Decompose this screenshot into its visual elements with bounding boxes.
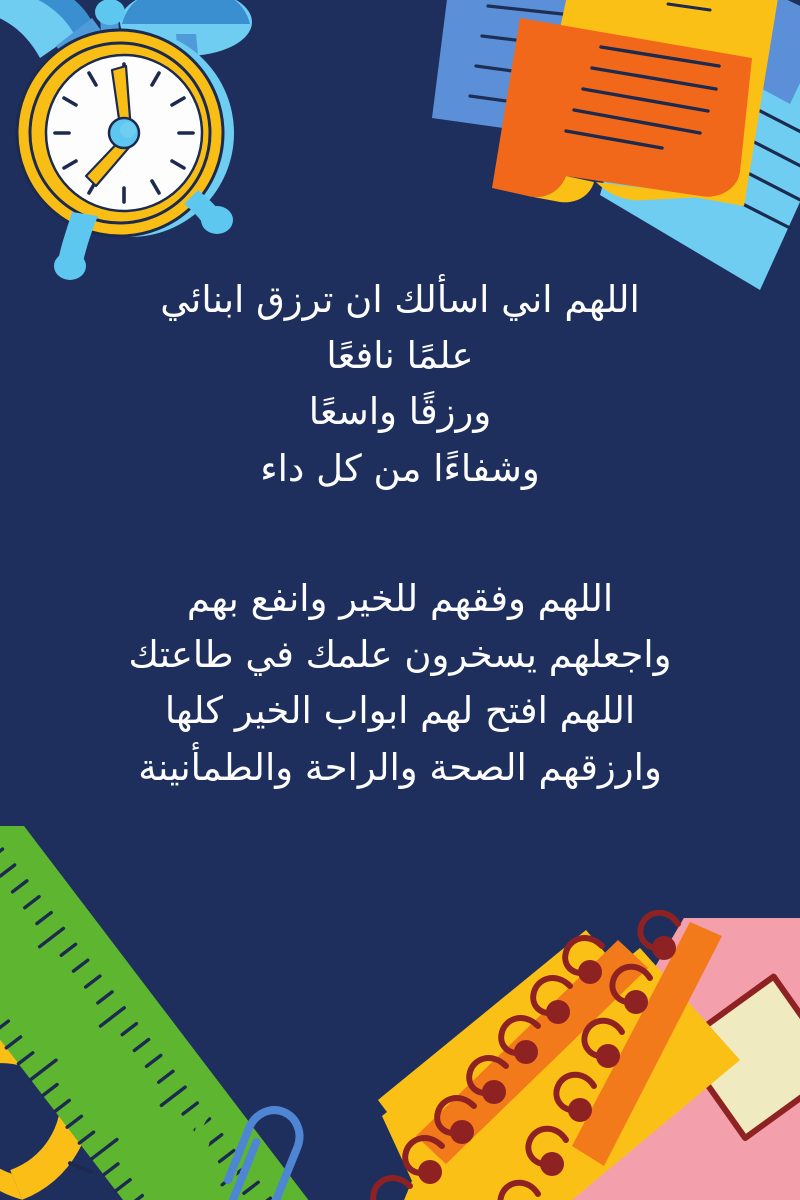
dua-line: وارزقهم الصحة والراحة والطمأنينة [50,740,750,796]
dua-line: اللهم افتح لهم ابواب الخير كلها [50,683,750,739]
dua-line: علمًا نافعًا [50,328,750,384]
dua-poster: اللهم اني اسألك ان ترزق ابنائي علمًا ناف… [0,0,800,1200]
dua-line: واجعلهم يسخرون علمك في طاعتك [50,627,750,683]
dua-line: اللهم وفقهم للخير وانفع بهم [50,571,750,627]
dua-block-one: اللهم اني اسألك ان ترزق ابنائي علمًا ناف… [50,272,750,497]
dua-line: اللهم اني اسألك ان ترزق ابنائي [50,272,750,328]
dua-line: وشفاءًا من كل داء [50,441,750,497]
dua-content: اللهم اني اسألك ان ترزق ابنائي علمًا ناف… [0,0,800,1200]
dua-block-two: اللهم وفقهم للخير وانفع بهم واجعلهم يسخر… [50,571,750,796]
dua-line: ورزقًا واسعًا [50,384,750,440]
